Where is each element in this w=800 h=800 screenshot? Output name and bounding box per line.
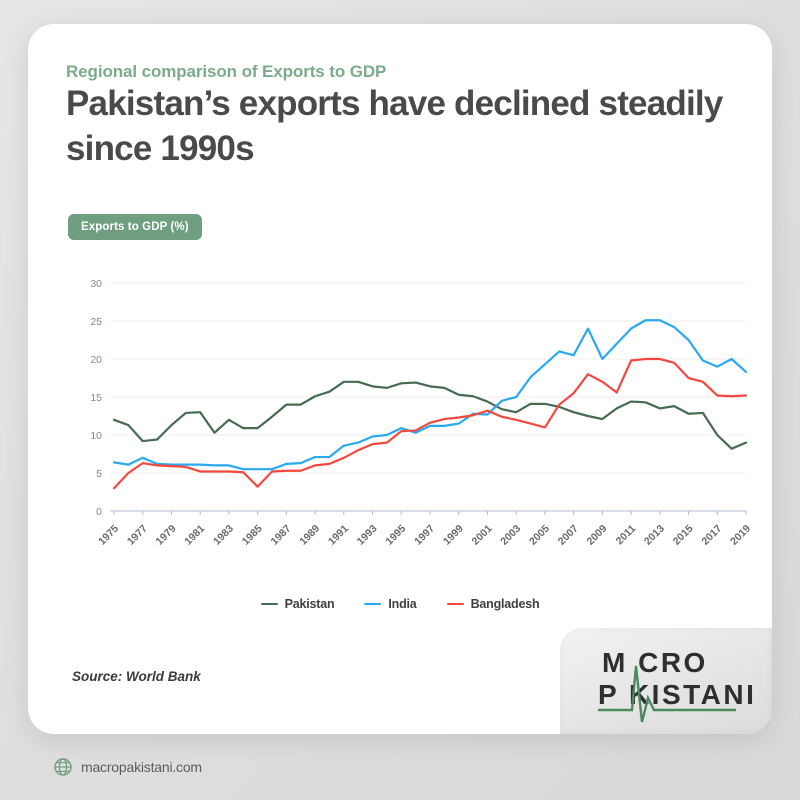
- x-axis-tick-label: 2019: [728, 523, 753, 548]
- y-axis-tick-label: 10: [90, 430, 102, 442]
- y-axis-tick-label: 15: [90, 392, 102, 404]
- infographic-card: Regional comparison of Exports to GDP Pa…: [28, 24, 772, 734]
- x-axis-tick-label: 2013: [642, 523, 667, 548]
- x-axis-tick-label: 2011: [614, 523, 639, 548]
- legend-label: India: [388, 597, 416, 611]
- legend-swatch-pakistan: [261, 603, 278, 606]
- x-axis-tick-label: 1989: [297, 523, 322, 548]
- canvas-background: Regional comparison of Exports to GDP Pa…: [0, 0, 800, 800]
- legend-label: Bangladesh: [471, 597, 540, 611]
- page-title: Pakistan’s exports have declined steadil…: [66, 82, 726, 172]
- logo-text-line2: P KISTANI: [598, 679, 756, 710]
- y-axis-tick-label: 5: [96, 468, 102, 480]
- x-axis-tick-label: 1997: [412, 523, 437, 548]
- y-axis-tick-label: 25: [90, 316, 102, 328]
- x-axis-tick-label: 2015: [671, 523, 696, 548]
- legend-item-pakistan[interactable]: Pakistan: [261, 597, 335, 611]
- metric-badge: Exports to GDP (%): [68, 214, 202, 240]
- x-axis-tick-label: 1985: [240, 523, 265, 548]
- x-axis-tick-label: 1987: [268, 523, 293, 548]
- x-axis-tick-label: 1993: [355, 523, 380, 548]
- source-note: Source: World Bank: [72, 669, 201, 684]
- x-axis-tick-label: 2017: [699, 523, 724, 548]
- legend-label: Pakistan: [285, 597, 335, 611]
- x-axis-tick-label: 1995: [383, 523, 408, 548]
- site-footer: macropakistani.com: [0, 734, 800, 800]
- chart-canvas: 0510152025301975197719791981198319851987…: [66, 269, 756, 599]
- logo-macro-pakistani: M CRO P KISTANI: [560, 636, 772, 728]
- logo-svg: M CRO P KISTANI: [560, 636, 772, 728]
- x-axis-tick-label: 1975: [96, 523, 121, 548]
- x-axis-tick-label: 1981: [182, 523, 207, 548]
- x-axis-tick-label: 2009: [584, 523, 609, 548]
- x-axis-tick-label: 1983: [211, 523, 236, 548]
- globe-icon: [54, 758, 72, 776]
- x-axis-tick-label: 1999: [441, 523, 466, 548]
- legend-item-india[interactable]: India: [364, 597, 416, 611]
- kicker-subtitle: Regional comparison of Exports to GDP: [66, 62, 386, 82]
- line-chart: 0510152025301975197719791981198319851987…: [66, 269, 756, 599]
- x-axis-tick-label: 1979: [154, 523, 179, 548]
- logo-text-line1: M CRO: [602, 647, 708, 678]
- logo-plate: M CRO P KISTANI: [560, 628, 772, 734]
- legend-swatch-bangladesh: [447, 603, 464, 606]
- y-axis-tick-label: 20: [90, 354, 102, 366]
- x-axis-tick-label: 2001: [470, 523, 495, 548]
- series-line-india: [114, 320, 746, 469]
- legend-item-bangladesh[interactable]: Bangladesh: [447, 597, 540, 611]
- series-line-pakistan: [114, 382, 746, 449]
- legend-swatch-india: [364, 603, 381, 606]
- x-axis-tick-label: 2003: [498, 523, 523, 548]
- y-axis-tick-label: 30: [90, 278, 102, 290]
- chart-legend: PakistanIndiaBangladesh: [28, 597, 772, 611]
- x-axis-tick-label: 2005: [527, 523, 552, 548]
- y-axis-tick-label: 0: [96, 506, 102, 518]
- x-axis-tick-label: 1991: [326, 523, 351, 548]
- x-axis-tick-label: 1977: [125, 523, 150, 548]
- x-axis-tick-label: 2007: [556, 523, 581, 548]
- website-url: macropakistani.com: [81, 759, 202, 775]
